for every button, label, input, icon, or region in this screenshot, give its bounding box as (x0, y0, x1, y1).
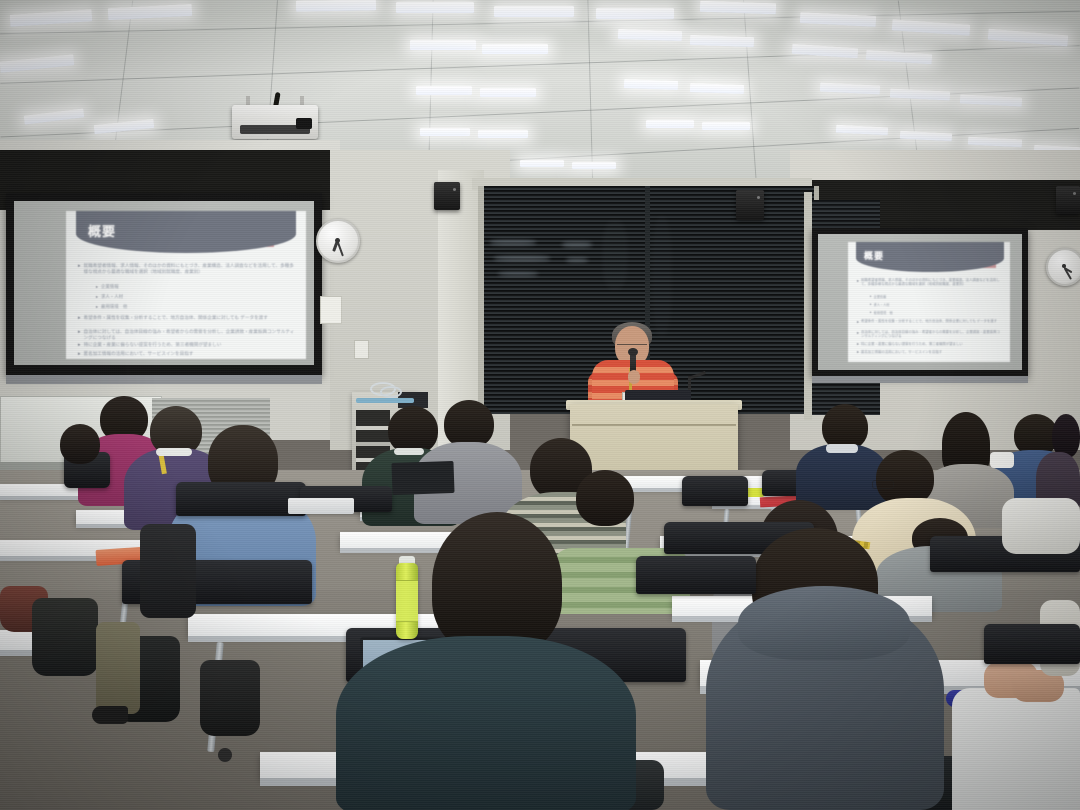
ceiling-light (836, 125, 888, 136)
slide-bullet: ▸ 求人・人材 (96, 294, 123, 300)
ceiling-light (866, 50, 933, 65)
ceiling-light (960, 94, 1022, 106)
slide-bullet: ▸ 企業情報 (96, 284, 119, 290)
ceiling-light (646, 120, 694, 128)
bullet-marker-icon: ▸ (78, 351, 81, 357)
bottle-label (396, 580, 418, 622)
laptop-back-center (288, 498, 354, 514)
attendee-head (388, 406, 438, 454)
wall-clock-right (1046, 248, 1080, 286)
bullet-marker-icon: ▸ (96, 284, 98, 289)
rack-shelf (356, 426, 390, 430)
slide-bullet: ▸ 就職希望者情報、求人情報、そのほかの資料にもとづき、産業構造、法人調査などを… (857, 278, 1005, 287)
ceiling-light (24, 108, 85, 124)
hoodie-hood (738, 586, 910, 660)
av-cable (380, 386, 402, 398)
ceiling-light (700, 1, 776, 15)
slide-bullet-text: 自治体に対しては、自治体目線の強み・希望者からの需要を分析し、企業誘致・産業振興… (861, 330, 1001, 339)
bullet-marker-icon: ▸ (96, 294, 98, 299)
slide-bullet: ▸ 雇用環境 他 (870, 310, 893, 315)
slide-bullet-text: 特に企業・産業に偏らない提案を行うため、第三者機関が望ましい (861, 341, 963, 346)
attendee-shoe (92, 706, 128, 724)
slide-bullet-text: 特に企業・産業に偏らない提案を行うため、第三者機関が望ましい (84, 342, 222, 348)
ceiling-light (416, 86, 472, 95)
slide-bullet: ▸ 求人・人材 (870, 302, 889, 307)
slide-bullet-text: 求人・人材 (874, 302, 890, 307)
ceiling-light (890, 88, 950, 100)
slide-bullet-text: 就職希望者情報、求人情報、そのほかの資料にもとづき、産業構造、法人調査などを活用… (861, 278, 1001, 287)
wall-speaker-right (1056, 186, 1080, 214)
attendee-glasses (872, 480, 894, 489)
ceiling-light (296, 0, 376, 12)
bullet-marker-icon: ▸ (857, 349, 859, 354)
ceiling-light (900, 131, 952, 142)
slide-title: 概要 (864, 249, 884, 262)
bullet-marker-icon: ▸ (870, 294, 872, 298)
slide-title: 概要 (88, 221, 116, 240)
slide-bullet-text: 企業情報 (874, 294, 887, 299)
slide-bullet: ▸ 匿名加工情報の活用において、サービスインを目指す (78, 351, 302, 357)
bullet-marker-icon: ▸ (857, 319, 859, 324)
ceiling-light (792, 44, 859, 59)
ceiling-light (0, 54, 74, 73)
left-projection-screen: 概要 ▸ 就職希望者情報、求人情報、そのほかの資料にもとづき、産業構造、法人調査… (6, 193, 322, 375)
floor-bag-side (200, 660, 260, 736)
right-screen-bottom-bar (812, 376, 1028, 383)
ceiling-light (494, 6, 574, 17)
ceiling-light (396, 2, 474, 13)
slide-bullet-text: 自治体に対しては、自治体目線の強み・希望者からの需要を分析し、企業誘致・産業振興… (84, 329, 296, 341)
right-slide: 概要 ▸ 就職希望者情報、求人情報、そのほかの資料にもとづき、産業構造、法人調査… (848, 242, 1010, 362)
ceiling-light (702, 122, 750, 130)
wall-clock-left (316, 219, 360, 263)
slide-bullet-text: 希望条件・属性を収集・分析することで、地方自治体、関係企業に対しても データを渡… (861, 319, 1001, 323)
slide-bullet-text: 匿名加工情報の活用において、サービスインを目指す (84, 351, 194, 357)
ceiling-light (690, 35, 754, 47)
ceiling-light (624, 79, 678, 90)
attendee-head (432, 512, 562, 654)
ceiling-light (482, 44, 548, 54)
wall-notice-paper (320, 296, 342, 324)
floor-backpack (32, 598, 98, 676)
attendee-head (576, 470, 634, 526)
bullet-marker-icon: ▸ (857, 341, 859, 346)
bullet-marker-icon: ▸ (78, 263, 81, 269)
ceiling-light (478, 130, 528, 138)
wall-speaker-left (434, 182, 460, 210)
chair-center-empty (636, 556, 756, 594)
ceiling-light (618, 29, 682, 41)
ceiling-light (572, 162, 616, 169)
bullet-marker-icon: ▸ (78, 315, 81, 321)
slide-bullet-text: 雇用環境 他 (874, 310, 893, 315)
lectern-seam (572, 424, 736, 426)
ceiling-light (520, 160, 564, 167)
ceiling-light (10, 9, 93, 27)
slide-bullet: ▸ 希望条件・属性を収集・分析することで、地方自治体、関係企業に対しても データ… (78, 315, 302, 321)
rack-shelf (356, 442, 390, 446)
attendee-collar (394, 448, 424, 455)
bullet-marker-icon: ▸ (78, 342, 81, 348)
attendee-dark-front (140, 524, 196, 618)
seminar-room-photo: 概要 ▸ 就職希望者情報、求人情報、そのほかの資料にもとづき、産業構造、法人調査… (0, 0, 1080, 810)
ceiling-light (820, 82, 880, 94)
projector-lens (296, 118, 312, 129)
slide-bullet: ▸ 企業情報 (870, 294, 886, 299)
slide-bullet: ▸ 自治体に対しては、自治体目線の強み・希望者からの需要を分析し、企業誘致・産業… (78, 329, 302, 341)
ceiling-light (410, 40, 476, 50)
right-screen-surface: 概要 ▸ 就職希望者情報、求人情報、そのほかの資料にもとづき、産業構造、法人調査… (818, 234, 1022, 370)
window-frame-right (804, 192, 812, 420)
slide-bullet: ▸ 匿名加工情報の活用において、サービスインを目指す (857, 349, 942, 354)
attendee-teal-sweater (336, 636, 636, 810)
ceiling-light (480, 88, 536, 97)
wall-speaker-center (736, 190, 764, 220)
table-caster (218, 748, 232, 762)
slide-bullet-text: 求人・人材 (101, 294, 123, 300)
slide-bullet-text: 希望条件・属性を収集・分析することで、地方自治体、関係企業に対しても データを渡… (84, 315, 296, 321)
bullet-marker-icon: ▸ (870, 302, 872, 306)
attendee-collar (826, 444, 858, 453)
bullet-marker-icon: ▸ (870, 310, 872, 314)
ceiling-light (892, 19, 971, 35)
left-slide: 概要 ▸ 就職希望者情報、求人情報、そのほかの資料にもとづき、産業構造、法人調査… (66, 211, 306, 359)
slide-bullet-text: 就職希望者情報、求人情報、そのほかの資料にもとづき、産業構造、法人調査などを活用… (84, 263, 296, 275)
attendee-face-mask (990, 452, 1014, 468)
ceiling-light (596, 8, 674, 19)
slide-bullet-text: 雇用環境 他 (101, 304, 127, 310)
bullet-marker-icon: ▸ (96, 304, 98, 309)
attendee-trousers (96, 622, 140, 714)
attendee-head (60, 424, 100, 464)
clock-center-pin (335, 238, 340, 243)
chair-back-right (682, 476, 748, 506)
bullet-marker-icon: ▸ (857, 330, 859, 335)
ceiling-light (420, 128, 470, 136)
left-screen-surface: 概要 ▸ 就職希望者情報、求人情報、そのほかの資料にもとづき、産業構造、法人調査… (14, 201, 314, 365)
ceiling-light (690, 83, 744, 94)
clock-center-pin (1062, 264, 1066, 268)
ceiling-light (968, 137, 1022, 148)
laptop-back-left (391, 461, 454, 495)
chair-right-empty (984, 624, 1080, 664)
slide-bullet: ▸ 雇用環境 他 (96, 304, 127, 310)
ceiling-light (108, 4, 193, 20)
bullet-marker-icon: ▸ (78, 329, 81, 335)
slide-bullet: ▸ 特に企業・産業に偏らない提案を行うため、第三者機関が望ましい (857, 341, 963, 346)
av-rack-cables (356, 398, 414, 403)
attendee-navy-blazer (796, 444, 888, 510)
wall-switch-plate (354, 340, 369, 359)
slide-bullet: ▸ 特に企業・産業に偏らない提案を行うため、第三者機関が望ましい (78, 342, 302, 348)
slide-bullet: ▸ 就職希望者情報、求人情報、そのほかの資料にもとづき、産業構造、法人調査などを… (78, 263, 302, 275)
bullet-marker-icon: ▸ (857, 278, 859, 283)
ceiling-light (988, 29, 1069, 47)
clock-minute-hand (337, 242, 344, 257)
right-projection-screen: 概要 ▸ 就職希望者情報、求人情報、そのほかの資料にもとづき、産業構造、法人調査… (812, 228, 1028, 376)
microphone-head (628, 348, 638, 356)
left-screen-bottom-bar (6, 375, 322, 384)
slide-bullet-text: 企業情報 (101, 284, 119, 290)
presenter-hand (628, 370, 640, 384)
attendee-head (444, 400, 494, 448)
chair-left-mid (176, 482, 306, 516)
attendee-collar (156, 448, 192, 456)
attendee-white-sleeve (1002, 498, 1080, 554)
slide-bullet-text: 匿名加工情報の活用において、サービスインを目指す (861, 349, 942, 354)
slide-bullet: ▸ 希望条件・属性を収集・分析することで、地方自治体、関係企業に対しても データ… (857, 319, 1005, 324)
slide-bullet: ▸ 自治体に対しては、自治体目線の強み・希望者からの需要を分析し、企業誘致・産業… (857, 330, 1005, 339)
attendee-white-shirt (952, 688, 1080, 810)
